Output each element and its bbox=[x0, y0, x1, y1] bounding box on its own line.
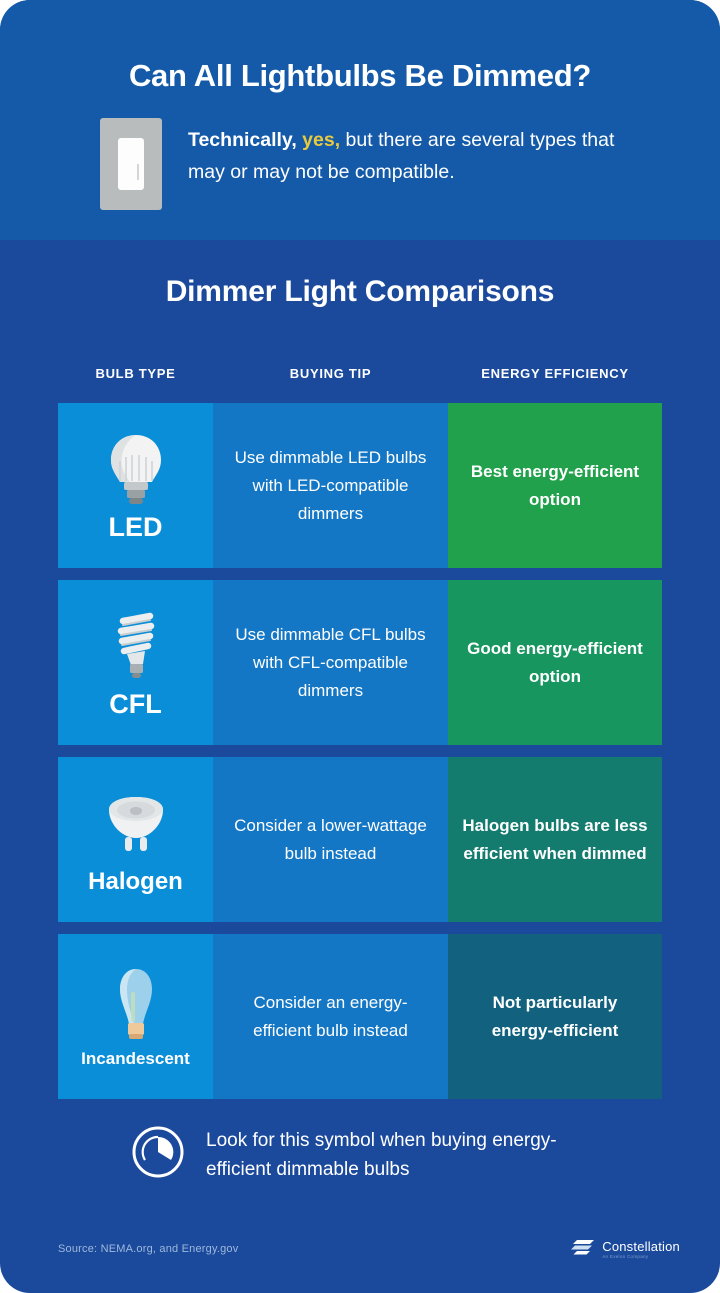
table-row: LED Use dimmable LED bulbs with LED-comp… bbox=[58, 403, 662, 568]
cell-bulb-type: Incandescent bbox=[58, 934, 213, 1099]
cell-energy-efficiency: Best energy-efficient option bbox=[448, 403, 662, 568]
halogen-mr16-bulb-icon bbox=[103, 786, 169, 868]
column-header-buying-tip: BUYING TIP bbox=[213, 366, 448, 381]
column-header-energy-efficiency: ENERGY EFFICIENCY bbox=[448, 366, 662, 381]
cell-buying-tip: Consider a lower-wattage bulb instead bbox=[213, 757, 448, 922]
bulb-label: Incandescent bbox=[81, 1050, 190, 1067]
column-header-bulb-type: BULB TYPE bbox=[58, 366, 213, 381]
bulb-label: LED bbox=[109, 514, 163, 541]
logo-tagline: An Exelon Company bbox=[602, 1255, 680, 1260]
intro-highlight: yes, bbox=[302, 129, 340, 151]
wall-dimmer-switch-icon bbox=[100, 118, 162, 210]
table-row: Incandescent Consider an energy-efficien… bbox=[58, 934, 662, 1099]
comparison-table: LED Use dimmable LED bulbs with LED-comp… bbox=[58, 403, 662, 1111]
cell-buying-tip: Use dimmable LED bulbs with LED-compatib… bbox=[213, 403, 448, 568]
cell-buying-tip: Use dimmable CFL bulbs with CFL-compatib… bbox=[213, 580, 448, 745]
constellation-logo-mark bbox=[571, 1239, 595, 1261]
led-bulb-icon bbox=[105, 430, 167, 512]
cell-bulb-type: LED bbox=[58, 403, 213, 568]
logo-name: Constellation bbox=[602, 1240, 680, 1253]
constellation-logo: Constellation An Exelon Company bbox=[571, 1239, 680, 1261]
bulb-label: Halogen bbox=[88, 870, 183, 894]
section-title: Dimmer Light Comparisons bbox=[0, 275, 720, 309]
bulb-label: CFL bbox=[109, 691, 161, 718]
symbol-callout: Look for this symbol when buying energy-… bbox=[130, 1124, 600, 1185]
cfl-spiral-bulb-icon bbox=[107, 607, 165, 689]
cell-energy-efficiency: Good energy-efficient option bbox=[448, 580, 662, 745]
symbol-text: Look for this symbol when buying energy-… bbox=[206, 1126, 600, 1184]
cell-energy-efficiency: Halogen bulbs are less efficient when di… bbox=[448, 757, 662, 922]
source-attribution: Source: NEMA.org, and Energy.gov bbox=[58, 1243, 238, 1255]
logo-text: Constellation An Exelon Company bbox=[602, 1240, 680, 1260]
intro-text: Technically, yes, but there are several … bbox=[188, 116, 640, 188]
intro-lead: Technically, bbox=[188, 129, 297, 151]
cell-buying-tip: Consider an energy-efficient bulb instea… bbox=[213, 934, 448, 1099]
infographic-root: Can All Lightbulbs Be Dimmed? Technicall… bbox=[0, 0, 720, 1293]
dimmable-bulb-symbol-icon bbox=[130, 1124, 186, 1185]
cell-bulb-type: Halogen bbox=[58, 757, 213, 922]
table-row: CFL Use dimmable CFL bulbs with CFL-comp… bbox=[58, 580, 662, 745]
page-title: Can All Lightbulbs Be Dimmed? bbox=[0, 58, 720, 94]
table-row: Halogen Consider a lower-wattage bulb in… bbox=[58, 757, 662, 922]
table-column-headers: BULB TYPE BUYING TIP ENERGY EFFICIENCY bbox=[58, 366, 662, 381]
incandescent-bulb-icon bbox=[113, 966, 159, 1048]
cell-energy-efficiency: Not particularly energy-efficient bbox=[448, 934, 662, 1099]
switch-rocker-icon bbox=[118, 138, 144, 190]
cell-bulb-type: CFL bbox=[58, 580, 213, 745]
intro-row: Technically, yes, but there are several … bbox=[100, 116, 640, 210]
